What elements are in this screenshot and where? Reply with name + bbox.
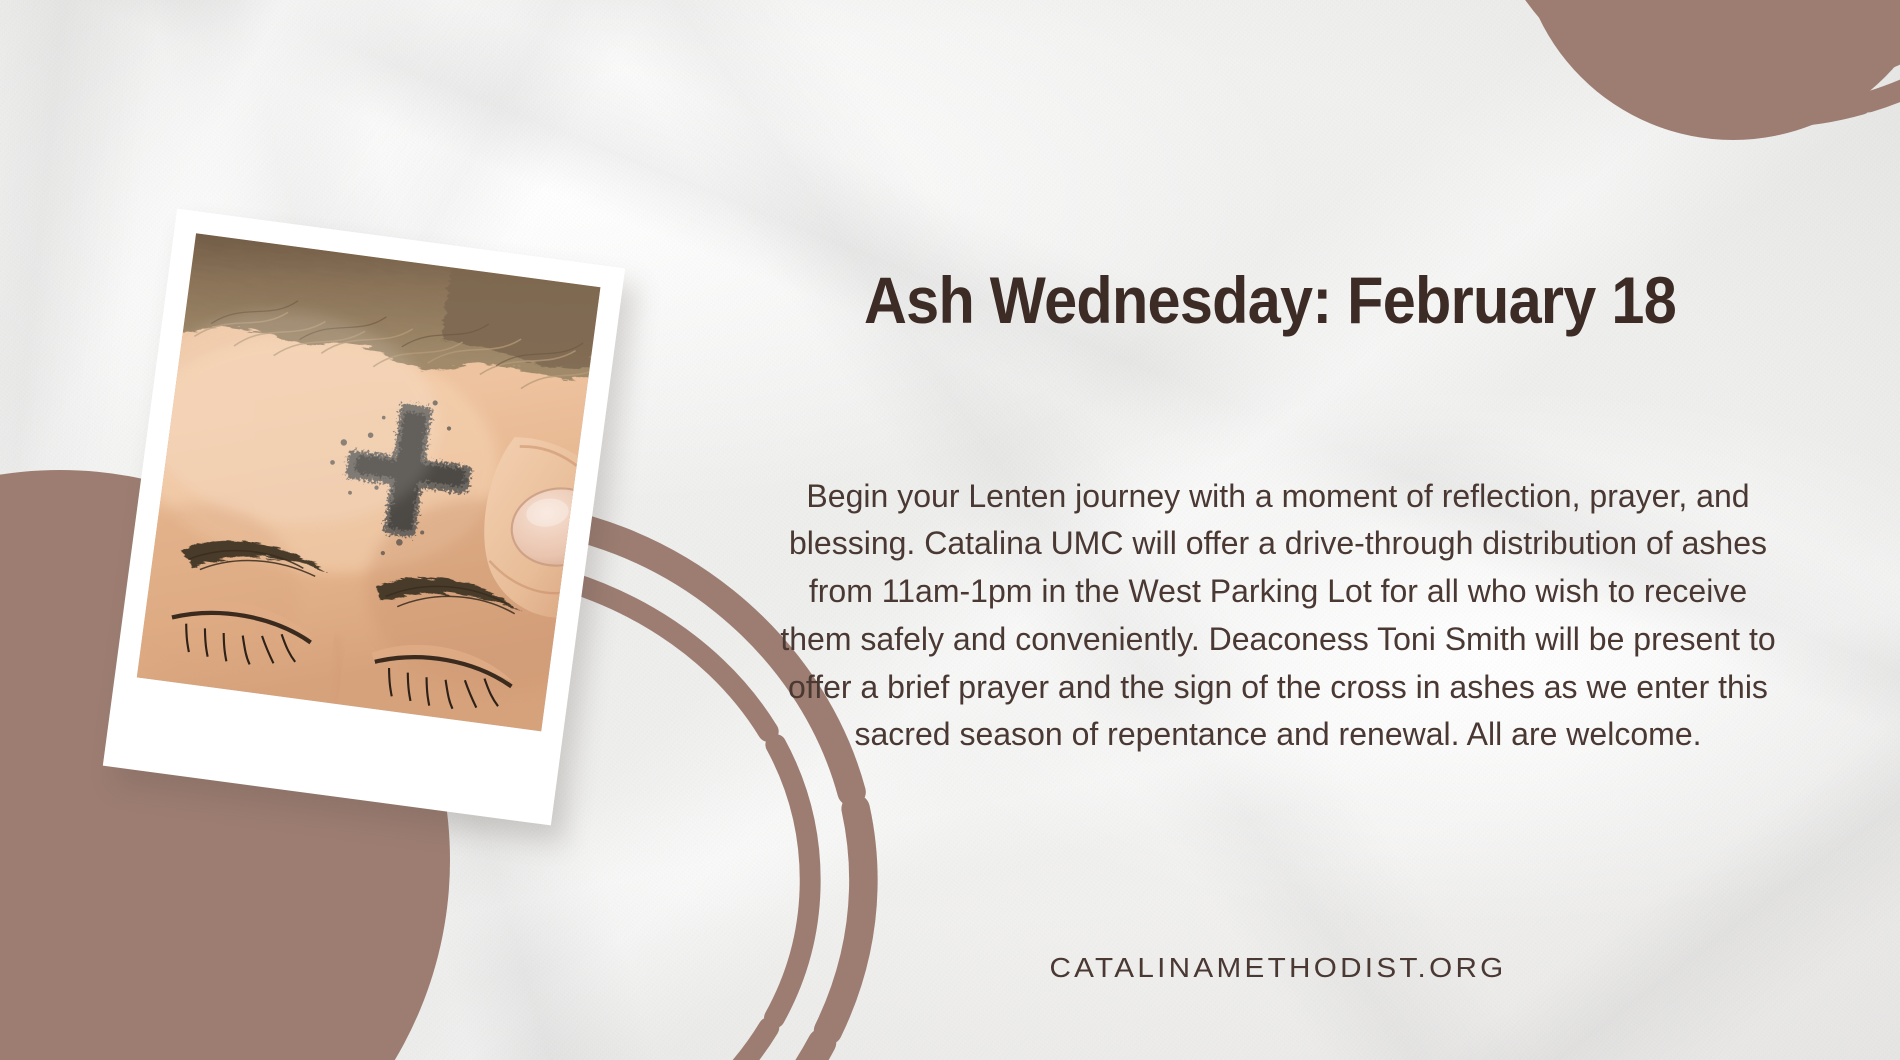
poster-canvas: Ash Wednesday: February 18 Begin your Le… <box>0 0 1900 1060</box>
polaroid-photo-frame <box>103 209 625 826</box>
event-description: Begin your Lenten journey with a moment … <box>776 473 1781 760</box>
website-url[interactable]: CATALINAMETHODIST.ORG <box>737 952 1818 984</box>
top-right-brush-ring <box>1450 0 1900 208</box>
ash-cross-photograph <box>137 233 601 731</box>
page-title: Ash Wednesday: February 18 <box>748 266 1792 336</box>
